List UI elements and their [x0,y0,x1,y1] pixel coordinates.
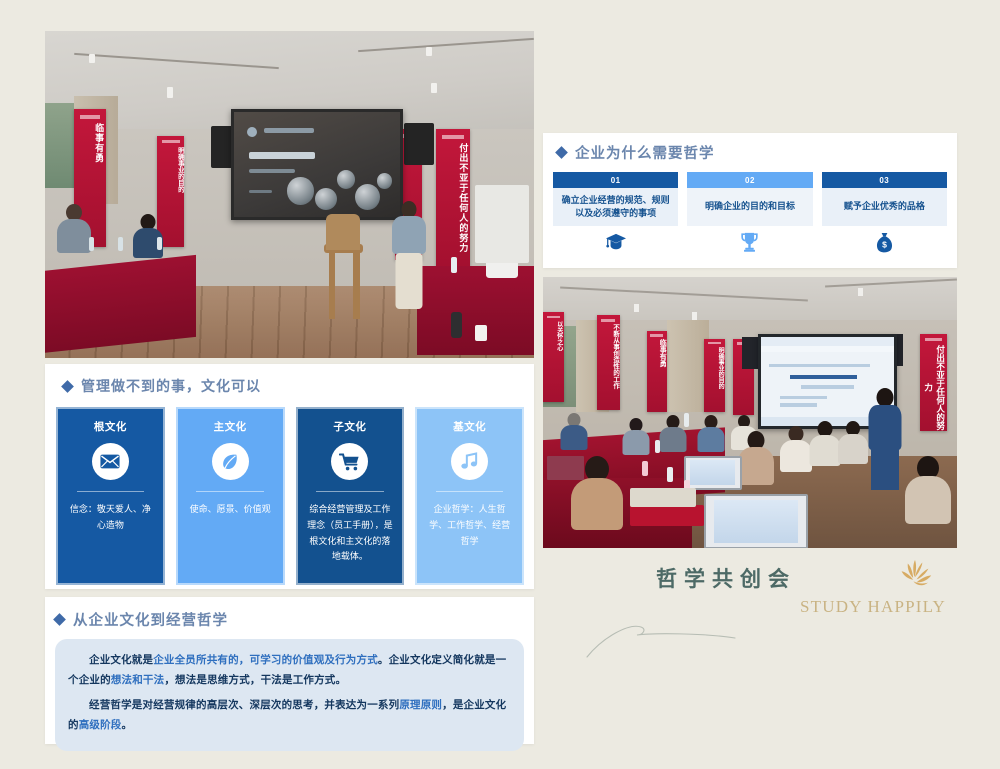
banner-4: 明确事业的目的 [704,339,725,412]
culture-box-main[interactable]: 主文化 使命、愿景、价值观 [176,407,285,585]
highlighted-text: 原理原则 [399,700,442,711]
banner-2: 不断从事创造性的工作 [597,315,620,410]
column-number: 02 [687,172,812,188]
philosophy-card: 企业为什么需要哲学 01 确立企业经营的规范、规则以及必须遵守的事项 02 明确… [543,133,957,268]
essay-card: 从企业文化到经营哲学 企业文化就是企业全员所共有的，可学习的价值观及行为方式。企… [45,597,534,744]
highlighted-text: 高级阶段 [79,720,122,731]
banner-text: 临事有勇 [647,339,668,367]
philosophy-columns: 01 确立企业经营的规范、规则以及必须遵守的事项 02 明确企业的目的和目标 [543,163,957,255]
leaf-icon [212,443,249,480]
banner-6: 付出不亚于任何人的努力 [920,334,947,432]
banner-text: 明确事业的目的 [704,347,725,389]
banner-text: 明确事业的目的 [157,147,184,193]
philosophy-column-3[interactable]: 03 赋予企业优秀的品格 $ [822,172,947,255]
meeting-room-presentation-photo: 临事有勇 明确事业的目的 怀有疑 付出不亚于任何人的努力 [45,31,534,358]
laptop [684,456,742,490]
presenter-person [382,201,436,348]
trophy-icon [739,229,760,255]
culture-card: 管理做不到的事，文化可以 根文化 信念：敬天爱人、净心造物 主文化 [45,364,534,589]
column-number: 01 [553,172,678,188]
culture-box-title: 子文化 [333,419,366,434]
body-text: ，想法是思维方式，干法是工作方式。 [164,675,346,686]
body-text: 企业文化就是 [89,655,153,666]
swoosh-flourish-icon [583,617,813,659]
presenter-person [862,388,908,518]
philosophy-column-2[interactable]: 02 明确企业的目的和目标 [687,172,812,255]
culture-box-desc: 信念：敬天爱人、净心造物 [67,502,154,534]
culture-box-base[interactable]: 基文化 企业哲学：人生哲学、工作哲学、经营哲学 [415,407,524,585]
laptop [704,494,807,548]
culture-box-desc: 综合经营管理及工作理念（员工手册），是根文化和主文化的落地载体。 [307,502,394,565]
body-text: 。 [122,720,133,731]
highlighted-text: 想法和干法 [111,675,165,686]
banner-1: 以关怀之心 [543,312,564,401]
slide-page: 临事有勇 明确事业的目的 怀有疑 付出不亚于任何人的努力 [0,0,1000,769]
diamond-bullet-icon [555,146,568,159]
envelope-icon [92,443,129,480]
culture-boxes: 根文化 信念：敬天爱人、净心造物 主文化 [45,396,534,585]
culture-box-desc: 企业哲学：人生哲学、工作哲学、经营哲学 [426,502,513,549]
essay-paragraph: 经营哲学是对经营规律的高层次、深层次的思考，并表达为一系列原理原则，是企业文化的… [68,696,511,737]
philosophy-column-1[interactable]: 01 确立企业经营的规范、规则以及必须遵守的事项 [553,172,678,255]
banner-4: 付出不亚于任何人的努力 [436,129,470,270]
seated-person [123,214,172,283]
column-text: 赋予企业优秀的品格 [822,188,947,226]
philosophy-card-title: 企业为什么需要哲学 [543,133,957,163]
music-note-icon [451,443,488,480]
culture-box-desc: 使命、愿景、价值观 [190,502,271,518]
column-number: 03 [822,172,947,188]
banner-text: 付出不亚于任何人的努力 [436,143,470,253]
brand-logo-text: STUDY HAPPILY [800,597,946,617]
diamond-bullet-icon [61,380,74,393]
culture-card-title-text: 管理做不到的事，文化可以 [81,376,261,396]
culture-card-title: 管理做不到的事，文化可以 [45,364,534,396]
column-text: 明确企业的目的和目标 [687,188,812,226]
banner-text: 不断从事创造性的工作 [597,324,620,389]
culture-box-title: 基文化 [453,419,486,434]
essay-body: 企业文化就是企业全员所共有的，可学习的价值观及行为方式。企业文化定义简化就是一个… [55,639,524,751]
banner-3: 临事有勇 [647,331,668,412]
graduation-cap-icon [605,229,627,255]
audience-person [899,456,957,548]
event-title: 哲学共创会 [656,563,796,593]
wheat-leaf-icon [891,555,941,595]
footer-branding: 哲学共创会 STUDY HAPPILY [543,555,957,665]
banner-text: 付出不亚于任何人的努力 [920,344,947,432]
culture-box-title: 根文化 [94,419,127,434]
essay-card-title: 从企业文化到经营哲学 [45,597,534,630]
banner-text: 临事有勇 [74,123,106,163]
culture-box-root[interactable]: 根文化 信念：敬天爱人、净心造物 [56,407,165,585]
culture-box-title: 主文化 [214,419,247,434]
column-text: 确立企业经营的规范、规则以及必须遵守的事项 [553,188,678,226]
banner-text: 以关怀之心 [543,321,564,351]
highlighted-text: 企业全员所共有的，可学习的价值观及行为方式 [153,655,378,666]
svg-text:$: $ [882,239,887,249]
philosophy-card-title-text: 企业为什么需要哲学 [575,142,715,163]
culture-box-sub[interactable]: 子文化 综合经营管理及工作理念（员工手册），是根文化和主文化的落地载体。 [296,407,405,585]
shopping-cart-icon [331,443,368,480]
essay-card-title-text: 从企业文化到经营哲学 [73,609,228,630]
audience-classroom-photo: 以关怀之心 不断从事创造性的工作 临事有勇 明确事业的目的 怀有疑 付出不亚于任… [543,277,957,548]
body-text: 经营哲学是对经营规律的高层次、深层次的思考，并表达为一系列 [89,700,399,711]
money-bag-icon: $ [875,229,894,255]
diamond-bullet-icon [53,613,66,626]
projection-screen [231,109,403,220]
essay-paragraph: 企业文化就是企业全员所共有的，可学习的价值观及行为方式。企业文化定义简化就是一个… [68,651,511,692]
